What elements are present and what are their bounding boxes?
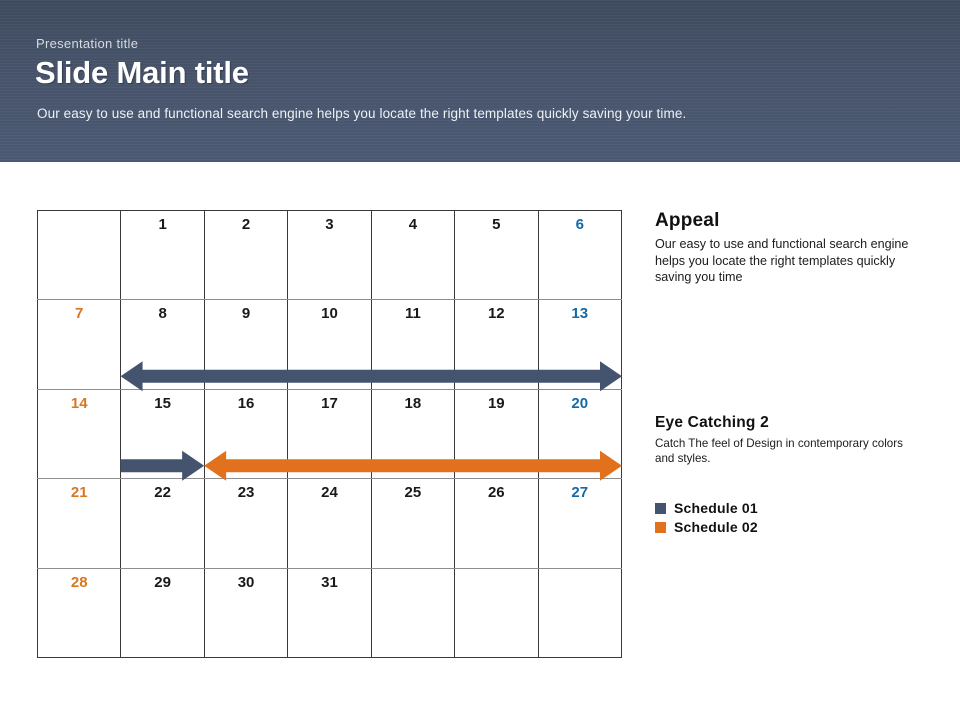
calendar-day-cell[interactable] (538, 568, 621, 657)
calendar-day-cell[interactable]: 31 (288, 568, 371, 657)
calendar-day-cell[interactable] (371, 568, 454, 657)
calendar-day-cell[interactable]: 17 (288, 389, 371, 478)
calendar-day-cell[interactable]: 28 (38, 568, 121, 657)
calendar-body: 1234567891011121314151617181920212223242… (38, 211, 622, 658)
calendar-day-number: 23 (205, 485, 287, 502)
appeal-body: Our easy to use and functional search en… (655, 236, 910, 286)
calendar-day-cell[interactable]: 8 (121, 300, 204, 389)
calendar-day-number: 29 (121, 575, 203, 592)
calendar-day-number: 4 (372, 217, 454, 234)
calendar-week-row: 28293031 (38, 568, 622, 657)
calendar-day-number: 17 (288, 396, 370, 413)
calendar-day-cell[interactable]: 23 (204, 479, 287, 568)
calendar-day-number: 21 (38, 485, 120, 502)
calendar-day-cell[interactable]: 20 (538, 389, 621, 478)
calendar-day-number (38, 217, 120, 234)
calendar-day-number: 20 (539, 396, 621, 413)
calendar-week-row: 78910111213 (38, 300, 622, 389)
calendar-day-cell[interactable]: 10 (288, 300, 371, 389)
appeal-heading: Appeal (655, 210, 910, 232)
calendar-day-number: 10 (288, 306, 370, 323)
calendar-day-number: 24 (288, 485, 370, 502)
calendar-day-cell[interactable]: 18 (371, 389, 454, 478)
calendar-day-cell[interactable]: 21 (38, 479, 121, 568)
calendar-day-number: 19 (455, 396, 537, 413)
calendar-day-cell[interactable]: 12 (455, 300, 538, 389)
calendar-day-number: 12 (455, 306, 537, 323)
calendar-day-cell[interactable]: 22 (121, 479, 204, 568)
eye-catching-body: Catch The feel of Design in contemporary… (655, 436, 910, 466)
calendar-day-cell[interactable]: 15 (121, 389, 204, 478)
calendar-day-number: 8 (121, 306, 203, 323)
slide-main-title: Slide Main title (35, 55, 249, 91)
calendar-day-cell[interactable]: 26 (455, 479, 538, 568)
calendar-day-cell[interactable]: 4 (371, 211, 454, 300)
schedule-legend: Schedule 01Schedule 02 (655, 500, 910, 538)
calendar-day-number: 27 (539, 485, 621, 502)
calendar-week-row: 21222324252627 (38, 479, 622, 568)
calendar-day-number: 3 (288, 217, 370, 234)
calendar-day-cell[interactable]: 19 (455, 389, 538, 478)
calendar-day-number: 5 (455, 217, 537, 234)
slide-subtitle: Our easy to use and functional search en… (37, 106, 686, 121)
calendar-day-number: 7 (38, 306, 120, 323)
calendar-day-cell[interactable]: 27 (538, 479, 621, 568)
calendar-grid: 1234567891011121314151617181920212223242… (37, 210, 622, 658)
calendar-day-number: 25 (372, 485, 454, 502)
legend-item-label: Schedule 01 (674, 500, 758, 516)
calendar-day-number (539, 575, 621, 592)
calendar-day-cell[interactable]: 11 (371, 300, 454, 389)
legend-item: Schedule 01 (655, 500, 910, 516)
legend-item-label: Schedule 02 (674, 519, 758, 535)
calendar-day-number: 1 (121, 217, 203, 234)
square-swatch-icon (655, 522, 666, 533)
slide-header: Presentation title Slide Main title Our … (0, 0, 960, 162)
calendar-day-cell[interactable]: 6 (538, 211, 621, 300)
calendar-day-cell[interactable] (455, 568, 538, 657)
calendar-day-number: 16 (205, 396, 287, 413)
calendar-day-number: 11 (372, 306, 454, 323)
calendar-day-number: 18 (372, 396, 454, 413)
calendar-day-number: 31 (288, 575, 370, 592)
calendar-day-cell[interactable]: 25 (371, 479, 454, 568)
calendar-day-number: 9 (205, 306, 287, 323)
calendar-day-cell[interactable]: 14 (38, 389, 121, 478)
legend-item: Schedule 02 (655, 519, 910, 535)
calendar-day-number: 30 (205, 575, 287, 592)
calendar-day-number: 26 (455, 485, 537, 502)
calendar-day-number: 22 (121, 485, 203, 502)
calendar-day-cell[interactable]: 29 (121, 568, 204, 657)
calendar-week-row: 123456 (38, 211, 622, 300)
calendar-day-number: 28 (38, 575, 120, 592)
calendar-day-number: 15 (121, 396, 203, 413)
calendar-day-cell[interactable]: 2 (204, 211, 287, 300)
calendar-day-cell[interactable]: 16 (204, 389, 287, 478)
calendar-day-cell[interactable]: 9 (204, 300, 287, 389)
calendar-day-cell[interactable]: 24 (288, 479, 371, 568)
calendar-day-cell[interactable]: 7 (38, 300, 121, 389)
appeal-block: Appeal Our easy to use and functional se… (655, 210, 910, 286)
calendar-day-number: 14 (38, 396, 120, 413)
calendar-day-cell[interactable]: 1 (121, 211, 204, 300)
eye-catching-heading: Eye Catching 2 (655, 414, 910, 432)
calendar-day-cell[interactable]: 3 (288, 211, 371, 300)
calendar-day-number: 2 (205, 217, 287, 234)
calendar-day-number: 13 (539, 306, 621, 323)
eye-catching-block: Eye Catching 2 Catch The feel of Design … (655, 414, 910, 466)
calendar-day-cell[interactable]: 30 (204, 568, 287, 657)
calendar-day-cell[interactable] (38, 211, 121, 300)
calendar-week-row: 14151617181920 (38, 389, 622, 478)
calendar-day-cell[interactable]: 13 (538, 300, 621, 389)
calendar-day-number: 6 (539, 217, 621, 234)
calendar-day-cell[interactable]: 5 (455, 211, 538, 300)
presentation-title-label: Presentation title (36, 36, 138, 51)
calendar-day-number (372, 575, 454, 592)
calendar-day-number (455, 575, 537, 592)
square-swatch-icon (655, 503, 666, 514)
